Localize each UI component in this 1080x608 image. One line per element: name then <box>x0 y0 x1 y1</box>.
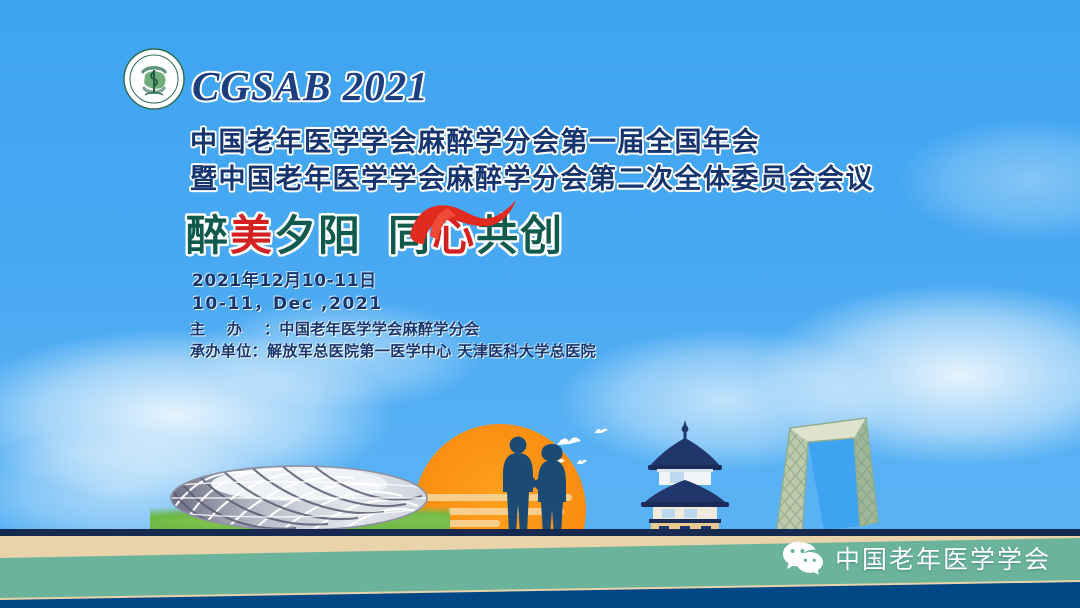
society-emblem-icon <box>123 48 185 110</box>
beijing-national-stadium <box>168 462 430 534</box>
cloud-decoration <box>900 120 1080 240</box>
red-ribbon-decoration <box>404 196 520 248</box>
slogan-char-3: 夕阳 <box>274 202 362 263</box>
organizer-value: 中国老年医学学会麻醉学分会 <box>279 320 479 338</box>
horizon-line <box>0 529 1080 536</box>
organizer-row: 主办：中国老年医学学会麻醉学分会 <box>190 318 480 339</box>
conference-poster: CGSAB 2021 中国老年医学学会麻醉学分会第一届全国年会 暨中国老年医学学… <box>0 0 1080 608</box>
organizer-label: 主办 <box>190 320 264 338</box>
wechat-badge[interactable]: 中国老年医学学会 <box>782 540 1051 576</box>
organizer-separator: ： <box>264 320 279 338</box>
cctv-headquarters <box>768 404 880 536</box>
host-row: 承办单位：解放军总医院第一医学中心 天津医科大学总医院 <box>190 340 596 361</box>
elderly-couple-silhouette <box>494 434 574 536</box>
temple-of-heaven <box>626 418 744 536</box>
host-label: 承办单位 <box>190 342 252 360</box>
conference-date-en: 10-11，Dec ,2021 <box>192 289 383 314</box>
host-value: 解放军总医院第一医学中心 天津医科大学总医院 <box>267 342 596 360</box>
slogan-char-1: 醉 <box>186 202 230 263</box>
flying-birds-icon <box>576 458 588 466</box>
conference-acronym: CGSAB 2021 <box>192 62 429 110</box>
slogan-char-2: 美 <box>230 202 274 263</box>
host-separator: ： <box>252 342 267 360</box>
conference-date-cn: 2021年12月10-11日 <box>192 266 377 291</box>
conference-title-line-1: 中国老年医学学会麻醉学分会第一届全国年会 <box>190 120 760 159</box>
flying-birds-icon <box>594 426 609 436</box>
wechat-account-name: 中国老年医学学会 <box>835 540 1051 576</box>
wechat-icon <box>782 540 824 576</box>
conference-title-line-2: 暨中国老年医学学会麻醉学分会第二次全体委员会会议 <box>190 157 874 196</box>
